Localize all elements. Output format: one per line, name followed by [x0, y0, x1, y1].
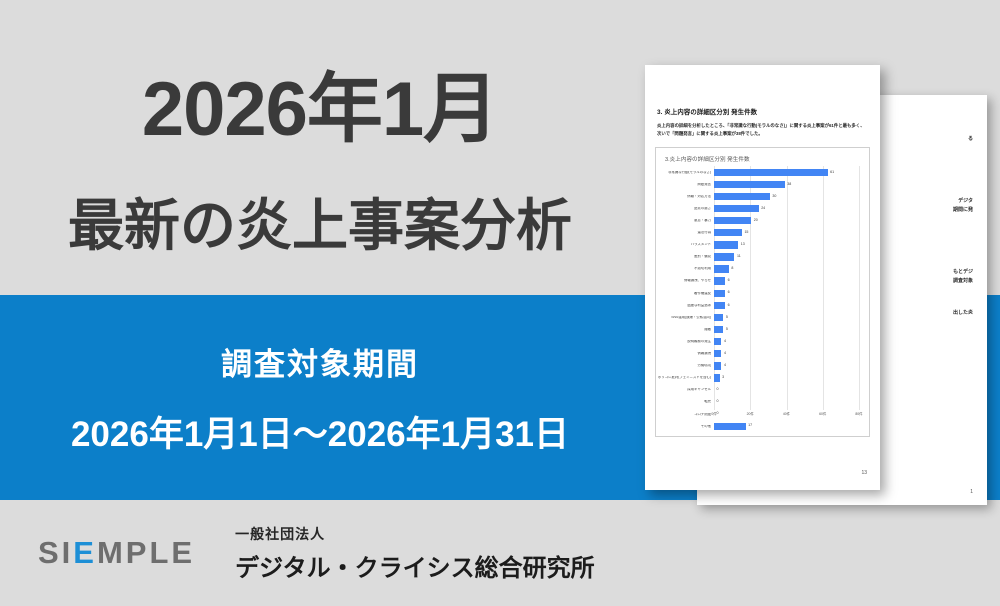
chart-bar-value: 0: [717, 388, 719, 392]
chart-bar-row: 採用キャンセル0: [656, 384, 863, 396]
chart-bar-value: 15: [744, 231, 748, 235]
chart-bar-row: 差別・偏見11: [656, 251, 863, 263]
chart-bar-value: 4: [724, 340, 726, 344]
document-heading: 3. 炎上内容の詳細区分別 発生件数: [657, 107, 868, 116]
chart-bar-value: 38: [787, 183, 791, 187]
chart-bar-value: 0: [717, 400, 719, 404]
chart-bar: [714, 217, 751, 224]
chart-bar-row: 過度な利益追求6: [656, 299, 863, 311]
document-back-page-number: 1: [970, 489, 973, 495]
chart-x-tick-label: 80件: [855, 411, 862, 416]
chart-category-label: ハラスメント: [656, 243, 714, 246]
chart-bar-wrapper: 4: [714, 338, 863, 345]
chart-bars: 非常識な行動(モラルのなさ)61問題発言38情報・対応方法30品質の悪さ24悪意…: [656, 166, 863, 410]
chart-bar: [714, 169, 828, 176]
chart-bar-wrapper: 0: [714, 398, 863, 405]
chart-bar-wrapper: 20: [714, 217, 863, 224]
chart-bar-wrapper: 6: [714, 277, 863, 284]
chart-bar-wrapper: 6: [714, 302, 863, 309]
chart-category-label: 問題発言: [656, 183, 714, 186]
chart-bar-value: 6: [728, 291, 730, 295]
chart-bar: [714, 277, 725, 284]
chart-category-label: 採用キャンセル: [656, 388, 714, 391]
chart-bar-wrapper: 3: [714, 374, 863, 381]
chart-category-label: コロナ関連: [656, 413, 714, 416]
chart-bar-row: 不適切利用8: [656, 263, 863, 275]
logo-text-before: SI: [38, 535, 73, 570]
logo-text-after: MPLE: [97, 535, 195, 570]
chart-bar-row: 悪意・暴力20: [656, 215, 863, 227]
chart-bar-row: 非常識な行動(モラルのなさ)61: [656, 166, 863, 178]
chart-bar-value: 3: [722, 376, 724, 380]
chart-bar: [714, 374, 720, 381]
chart-category-label: 転売: [656, 400, 714, 403]
chart-bar-value: 4: [724, 364, 726, 368]
chart-bar-wrapper: 4: [714, 362, 863, 369]
siemple-logo: SIEMPLE: [38, 535, 195, 571]
chart-category-label: 差別・偏見: [656, 255, 714, 258]
chart-bar-wrapper: 17: [714, 423, 863, 430]
chart-bar-wrapper: 6: [714, 290, 863, 297]
chart-category-label: 情報・対応方法: [656, 195, 714, 198]
chart-bar-value: 24: [761, 207, 765, 211]
chart-bar: [714, 241, 738, 248]
chart-bar-row: 著作権違反6: [656, 287, 863, 299]
chart-bar-value: 30: [772, 195, 776, 199]
chart-bar-wrapper: 8: [714, 265, 863, 272]
chart-container: 3.炎上内容の詳細区分別 発生件数 非常識な行動(モラルのなさ)61問題発言38…: [655, 147, 870, 437]
chart-bar-value: 6: [728, 304, 730, 308]
chart-bar-value: 4: [724, 352, 726, 356]
survey-period-label: 調査対象期間: [221, 339, 419, 384]
chart-bar: [714, 362, 721, 369]
chart-bar: [714, 423, 746, 430]
page-title: 2026年1月: [142, 72, 498, 148]
organization-prefix: 一般社団法人: [235, 524, 595, 544]
chart-category-label: SNS運用(誤爆・公私混同): [656, 316, 714, 319]
chart-bar: [714, 181, 785, 188]
chart-category-label: 情報漏洩: [656, 352, 714, 355]
chart-category-label: 情報漏洩、やらせ: [656, 279, 714, 282]
chart-x-tick-label: 20件: [747, 411, 754, 416]
chart-bar-row: 労働環境4: [656, 360, 863, 372]
cover-title-block: 2026年1月 最新の炎上事案分析: [0, 62, 640, 294]
chart-bar-row: 情報漏洩4: [656, 348, 863, 360]
chart-bar: [714, 326, 723, 333]
chart-category-label: 非常識な行動(モラルのなさ): [656, 171, 714, 174]
chart-bar-value: 17: [748, 424, 752, 428]
chart-category-label: 品質の悪さ: [656, 207, 714, 210]
chart-bar-wrapper: 11: [714, 253, 863, 260]
chart-bar: [714, 265, 729, 272]
chart-bar-row: SNS運用(誤爆・公私混同)5: [656, 311, 863, 323]
chart-bar-row: 品質の悪さ24: [656, 203, 863, 215]
chart-bar-wrapper: 30: [714, 193, 863, 200]
chart-bar-row: ポリコレ批判(フェミニストを含む)3: [656, 372, 863, 384]
chart-bar: [714, 290, 725, 297]
chart-x-tick-label: 0件: [711, 411, 716, 416]
chart-category-label: 労働環境: [656, 364, 714, 367]
page-subtitle: 最新の炎上事案分析: [68, 198, 572, 254]
chart-x-axis: 0件20件40件60件80件: [714, 410, 859, 420]
chart-bar-wrapper: 15: [714, 229, 863, 236]
footer: SIEMPLE 一般社団法人 デジタル・クライシス総合研究所: [0, 500, 640, 606]
chart-bar-row: 転売0: [656, 396, 863, 408]
chart-bar: [714, 253, 734, 260]
chart-bar-value: 13: [741, 243, 745, 247]
logo-text-accent: E: [73, 535, 97, 570]
chart-title: 3.炎上内容の詳細区分別 発生件数: [665, 155, 869, 163]
chart-bar: [714, 338, 721, 345]
document-front-page-number: 13: [861, 470, 867, 476]
chart-bar-row: 説明義務の発生4: [656, 336, 863, 348]
chart-bar: [714, 302, 725, 309]
survey-period-block: 調査対象期間 2026年1月1日〜2026年1月31日: [0, 295, 640, 500]
chart-bar-value: 5: [726, 328, 728, 332]
chart-category-label: 著作権違反: [656, 292, 714, 295]
chart-bar-row: 問題発言38: [656, 178, 863, 190]
chart-bar-row: 違法行為15: [656, 227, 863, 239]
chart-bar: [714, 350, 721, 357]
chart-bar: [714, 314, 723, 321]
chart-category-label: 説明義務の発生: [656, 340, 714, 343]
chart-category-label: 悪意・暴力: [656, 219, 714, 222]
chart-category-label: その他: [656, 425, 714, 428]
chart-bar-wrapper: 5: [714, 326, 863, 333]
chart-bar-wrapper: 61: [714, 169, 863, 176]
chart-bar-row: 情報・対応方法30: [656, 190, 863, 202]
chart-plot-area: 非常識な行動(モラルのなさ)61問題発言38情報・対応方法30品質の悪さ24悪意…: [656, 166, 863, 420]
chart-bar-row: ハラスメント13: [656, 239, 863, 251]
chart-category-label: 不適切利用: [656, 267, 714, 270]
chart-bar-wrapper: 4: [714, 350, 863, 357]
chart-category-label: 隠蔽: [656, 328, 714, 331]
chart-bar-wrapper: 13: [714, 241, 863, 248]
chart-bar-value: 5: [726, 316, 728, 320]
chart-bar-value: 20: [754, 219, 758, 223]
chart-bar-row: 隠蔽5: [656, 324, 863, 336]
chart-bar-row: その他17: [656, 420, 863, 432]
survey-period-value: 2026年1月1日〜2026年1月31日: [71, 406, 569, 457]
chart-x-tick-label: 40件: [783, 411, 790, 416]
chart-category-label: 過度な利益追求: [656, 304, 714, 307]
chart-bar-wrapper: 5: [714, 314, 863, 321]
chart-bar-value: 8: [731, 267, 733, 271]
chart-bar-wrapper: 24: [714, 205, 863, 212]
chart-bar: [714, 205, 759, 212]
chart-bar-wrapper: 0: [714, 386, 863, 393]
organization-block: 一般社団法人 デジタル・クライシス総合研究所: [235, 524, 595, 583]
organization-name: デジタル・クライシス総合研究所: [235, 548, 595, 583]
chart-bar-value: 6: [728, 279, 730, 283]
document-body-text: 炎上内容の詳細を分析したところ、「非常識な行動(モラルのなさ)」に関する炎上事案…: [657, 122, 868, 138]
chart-category-label: ポリコレ批判(フェミニストを含む): [656, 376, 714, 379]
chart-bar: [714, 193, 770, 200]
chart-bar-value: 11: [737, 255, 741, 259]
document-preview-front: 3. 炎上内容の詳細区分別 発生件数 炎上内容の詳細を分析したところ、「非常識な…: [645, 65, 880, 490]
chart-category-label: 違法行為: [656, 231, 714, 234]
chart-bar-value: 61: [830, 171, 834, 175]
chart-bar-row: 情報漏洩、やらせ6: [656, 275, 863, 287]
chart-bar: [714, 229, 742, 236]
chart-x-tick-label: 60件: [819, 411, 826, 416]
chart-bar-wrapper: 38: [714, 181, 863, 188]
